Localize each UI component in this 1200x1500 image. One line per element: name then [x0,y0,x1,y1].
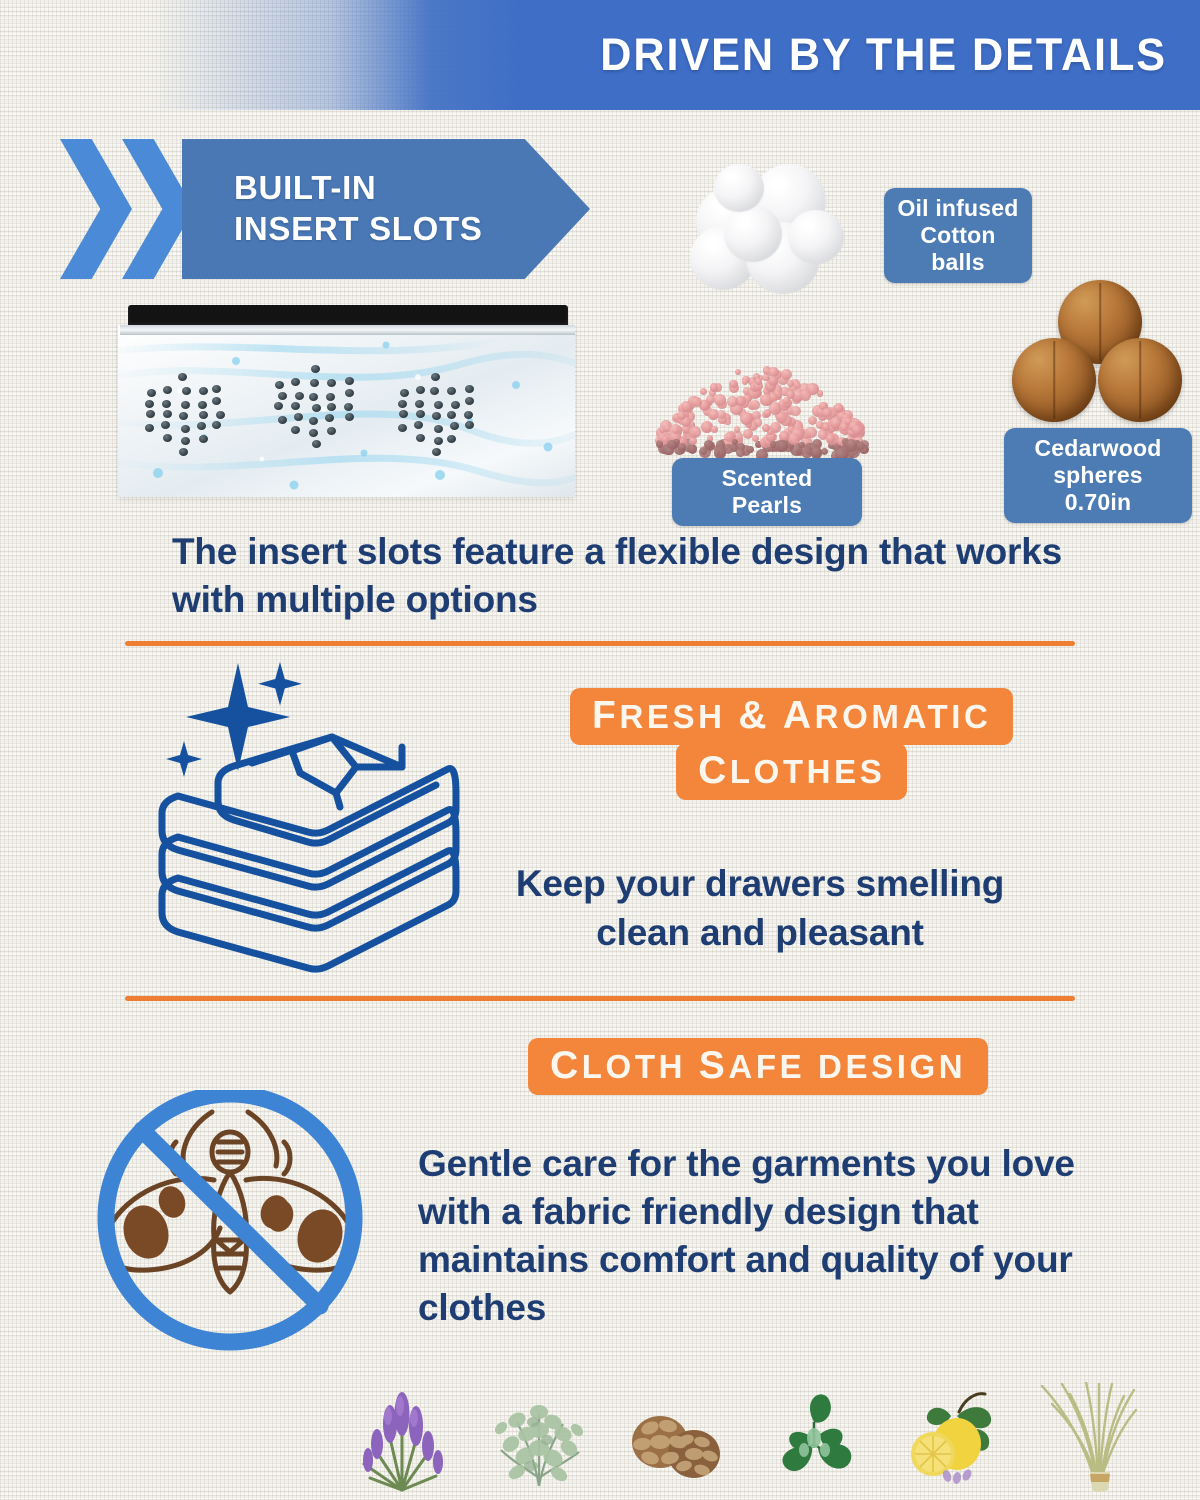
vent-hole [145,400,154,408]
vent-hole [326,393,335,401]
vent-hole [447,411,456,419]
vent-hole [310,379,319,387]
cloth-safe-description: Gentle care for the garments you love wi… [418,1140,1078,1332]
fresh-aromatic-description: Keep your drawers smelling clean and ple… [470,860,1050,958]
scented-pearls-image [655,350,870,460]
vent-hole [278,392,287,400]
vent-hole [447,435,456,443]
scented-pearl [852,425,862,435]
vent-hole [146,410,155,418]
vent-hole [181,437,190,445]
scented-pearl [826,434,835,443]
vent-hole [147,389,156,397]
vent-hole [309,393,318,401]
vent-hole [416,434,425,442]
vent-hole [345,389,354,397]
insert-badge-cotton-balls: Oil infused Cotton balls [884,188,1032,283]
badge-line-1: Cedarwood [1017,435,1179,462]
built-in-insert-slots-banner: BUILT-IN INSERT SLOTS [60,139,600,279]
vent-hole [431,373,440,381]
badge-line-2: spheres 0.70in [1017,462,1179,516]
vent-hole [414,421,423,429]
vent-hole [311,365,320,373]
vent-hole-cluster [146,375,238,461]
scented-pearl [689,426,701,438]
vent-hole [400,389,409,397]
product-image-insert-slot-box [110,305,580,500]
vent-hole [163,410,172,418]
vent-hole [179,448,188,456]
banner-title-line2: INSERT SLOTS [234,209,590,250]
tag-line-1: FRESH & AROMATIC [570,688,1013,745]
cotton-ball [788,210,844,264]
mint-icon [762,1382,866,1494]
scented-pearl [800,389,811,400]
scented-pearl [777,440,788,451]
vent-hole [434,437,443,445]
fresh-aromatic-clothes-tag: FRESH & AROMATIC CLOTHES [570,688,1013,800]
scented-pearl [704,440,713,449]
foam-strip [128,305,568,327]
vent-hole [345,377,354,385]
scented-pearl [769,393,778,402]
section-divider [125,641,1075,646]
vent-hole [327,427,336,435]
page-title: DRIVEN BY THE DETAILS [600,29,1188,81]
vent-hole [212,421,221,429]
scented-pearl [770,441,777,448]
lemongrass-icon [1036,1382,1140,1494]
vent-hole [179,412,188,420]
vent-hole [274,402,283,410]
scented-pearl [746,446,753,453]
vent-hole [291,378,300,386]
scented-pearl [805,427,817,439]
vent-hole [415,400,424,408]
scented-pearl [781,369,792,380]
vent-hole [181,425,190,433]
scented-pearl [700,388,707,395]
badge-line-2: Cotton balls [897,222,1019,276]
scented-pearl [834,403,844,413]
cotton-ball [714,164,764,212]
vent-hole [345,413,354,421]
scented-pearl [821,448,828,455]
scented-pearl [710,383,719,392]
vent-hole [325,414,334,422]
vent-hole [182,387,191,395]
vent-hole [278,416,287,424]
folded-clothes-icon [140,655,480,975]
scented-pearl [790,406,801,417]
vent-hole-cluster [398,375,490,461]
header-banner: DRIVEN BY THE DETAILS [0,0,1200,110]
scented-pearl [729,380,737,388]
section-divider [125,996,1075,1001]
vent-hole [398,424,407,432]
vent-hole [450,422,459,430]
eucalyptus-icon [487,1382,591,1494]
vent-hole [309,417,318,425]
vent-hole [295,392,304,400]
banner-title-line1: BUILT-IN [234,168,590,209]
cloth-safe-design-tag: CLOTH SAFE DESIGN [528,1038,988,1095]
lemon-icon [899,1382,1003,1494]
tag-line-2: CLOTHES [676,743,907,800]
scented-pearl [788,433,800,445]
scented-pearl [845,439,857,451]
vent-hole [434,425,443,433]
vent-hole-cluster [276,367,368,453]
box-body [118,325,575,497]
vent-hole [432,448,441,456]
scented-pearl [667,440,676,449]
cotton-balls-image [690,160,860,310]
pinecone-icon [624,1382,728,1494]
no-moth-icon [72,1090,392,1365]
insert-slots-description: The insert slots feature a flexible desi… [172,528,1062,624]
vent-hole [465,385,474,393]
vent-hole [198,401,207,409]
scented-pearl [735,369,741,375]
scented-pearl [688,444,697,453]
vent-hole [291,402,300,410]
vent-hole [398,400,407,408]
vent-hole [309,429,318,437]
scented-pearl [691,397,701,407]
vent-hole [416,410,425,418]
vent-hole [432,412,441,420]
vent-hole [178,373,187,381]
vent-hole [199,435,208,443]
insert-badge-cedarwood-spheres: Cedarwood spheres 0.70in [1004,428,1192,523]
cedarwood-spheres-image [1010,280,1185,425]
box-lip [120,325,575,335]
vent-hole [181,401,190,409]
vent-hole [434,401,443,409]
vent-hole [275,381,284,389]
scented-pearl [689,437,697,445]
scented-pearl [714,394,726,406]
scented-pearl [762,374,769,381]
vent-hole [212,397,221,405]
banner-arrow-body: BUILT-IN INSERT SLOTS [182,139,590,279]
scented-pearl [822,423,830,431]
scented-pearl [734,426,741,433]
vent-hole [216,411,225,419]
vent-hole [163,434,172,442]
scented-pearl [857,442,865,450]
chevron-right-icon [60,139,132,279]
badge-line-1: Scented Pearls [685,465,849,519]
scented-pearl [783,397,790,404]
vent-hole [464,411,473,419]
scented-pearl [736,448,745,457]
scented-pearl [752,435,759,442]
vent-hole [430,387,439,395]
vent-hole [465,421,474,429]
scented-pearl [742,379,749,386]
cotton-ball [724,206,782,262]
scented-pearl [711,426,718,433]
vent-hole [199,411,208,419]
vent-hole [291,426,300,434]
vent-hole [197,422,206,430]
botanical-scents-row [350,1372,1140,1494]
vent-hole [294,413,303,421]
vent-hole [327,379,336,387]
vent-hole [344,403,353,411]
vent-hole [327,403,336,411]
vent-hole [162,400,171,408]
vent-hole [465,397,474,405]
vent-hole [199,387,208,395]
vent-hole [416,386,425,394]
scented-pearl [750,400,760,410]
vent-hole [447,387,456,395]
vent-hole [212,385,221,393]
vent-hole [312,404,321,412]
tag-line-1: CLOTH SAFE DESIGN [528,1038,988,1095]
scented-pearl [754,418,763,427]
vent-hole [312,440,321,448]
badge-line-1: Oil infused [897,195,1019,222]
vent-hole [451,401,460,409]
vent-hole [163,386,172,394]
vent-hole [161,421,170,429]
vent-hole [399,410,408,418]
vent-hole [145,424,154,432]
insert-badge-scented-pearls: Scented Pearls [672,458,862,526]
lavender-icon [350,1382,454,1494]
scented-pearl [822,408,831,417]
